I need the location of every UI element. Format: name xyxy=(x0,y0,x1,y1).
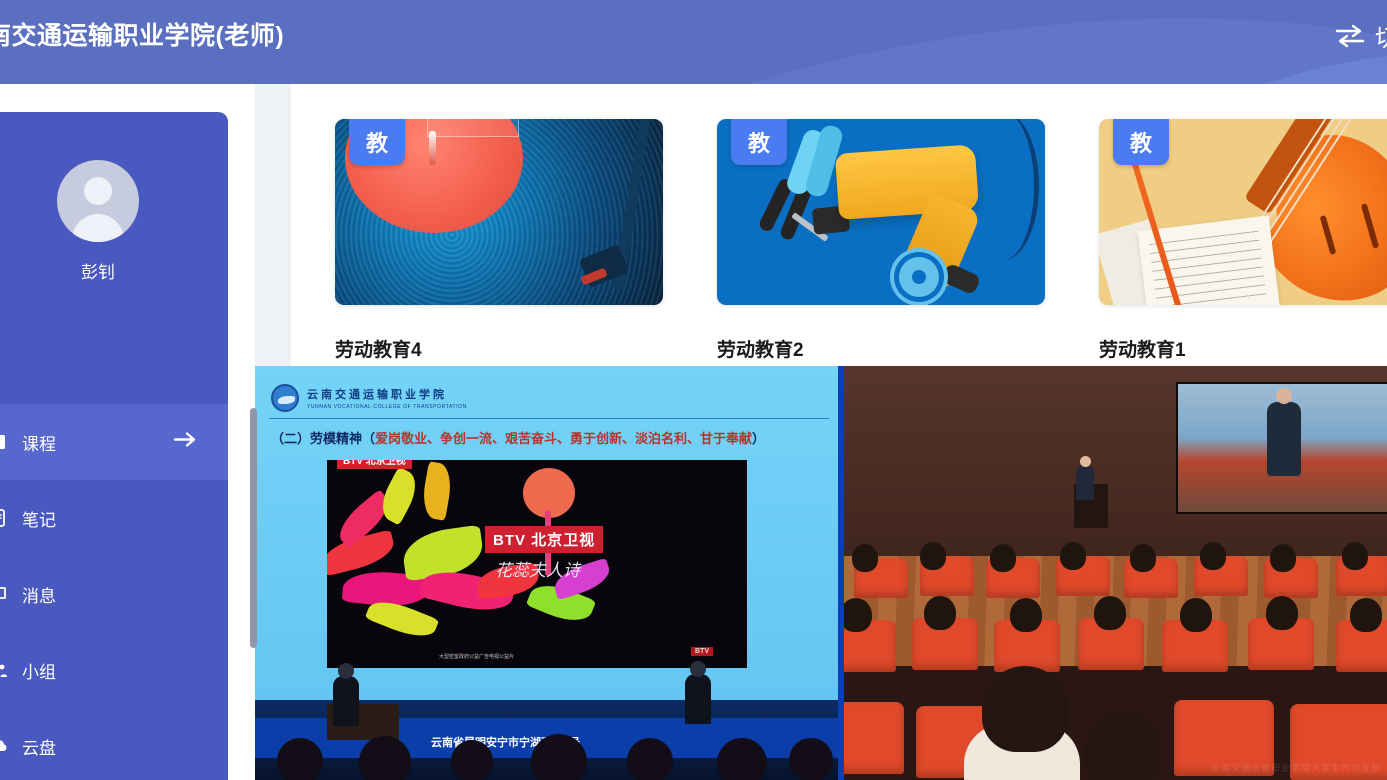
video-preview-row: 云南交通运输职业学院 YUNNAN VOCATIONAL COLLEGE OF … xyxy=(255,366,1387,780)
audience-head-decoration xyxy=(920,542,946,570)
profile-name: 彭钊 xyxy=(0,258,228,283)
sidebar-item-label: 小组 xyxy=(22,658,56,683)
sidebar-item-label: 课程 xyxy=(22,430,56,455)
audience-head-decoration xyxy=(451,740,493,780)
power-drill-tools-thumbnail: 教 xyxy=(717,119,1045,305)
video-watermark: 云南交通运输职业学院大学生时代支部 xyxy=(1211,761,1381,774)
course-badge: 教 xyxy=(349,119,405,165)
college-logo-icon xyxy=(271,384,299,412)
audience-head-decoration xyxy=(277,738,323,780)
audience-head-decoration xyxy=(359,736,411,780)
slide-heading-prefix: （二）劳模精神（ xyxy=(271,431,375,446)
speaker-person-decoration xyxy=(685,674,711,724)
sidebar-menu: 课程 笔记 xyxy=(0,404,228,780)
auditorium-projection-screen xyxy=(1176,382,1387,514)
slide-divider xyxy=(269,418,829,419)
presentation-slide-lecture-video[interactable]: 云南交通运输职业学院 YUNNAN VOCATIONAL COLLEGE OF … xyxy=(255,366,838,780)
course-card-title: 劳动教育2 xyxy=(717,335,1045,362)
vinyl-paper-decoration xyxy=(427,119,519,137)
btv-subtitle: 花蕊夫人诗 xyxy=(495,556,580,581)
sidebar-item-groups[interactable]: 小组 xyxy=(0,632,228,708)
auditorium-lecture-video[interactable]: 云南交通运输职业学院大学生时代支部 xyxy=(844,366,1387,780)
btv-ribbon-label: BTV 北京卫视 xyxy=(337,460,412,469)
sidebar-item-messages[interactable]: 消息 xyxy=(0,556,228,632)
avatar xyxy=(57,160,139,242)
btv-video-frame: BTV 北京卫视 BTV 北京卫视 花蕊夫人诗 大型密室政府公益广告电视公益片 … xyxy=(327,460,747,668)
arrow-right-icon xyxy=(173,431,197,454)
page-title: 南交通运输职业学院(老师) xyxy=(0,16,284,52)
audience-head-decoration xyxy=(1060,542,1086,570)
course-card-title: 劳动教育4 xyxy=(335,335,663,362)
cloud-disk-icon xyxy=(0,736,22,756)
sidebar-item-cloud-disk[interactable]: 云盘 xyxy=(0,708,228,780)
sidebar-item-label: 笔记 xyxy=(22,506,56,531)
app-header: 南交通运输职业学院(老师) 切换 xyxy=(0,0,1387,84)
vinyl-spindle-decoration xyxy=(429,131,436,165)
audience-head-decoration xyxy=(1342,542,1368,570)
course-badge: 教 xyxy=(731,119,787,165)
auditorium-speaker-person xyxy=(1076,466,1094,500)
audience-head-decoration xyxy=(852,544,878,572)
switch-arrows-icon xyxy=(1334,23,1366,49)
audience-head-decoration xyxy=(1270,544,1296,572)
audience-head-decoration xyxy=(1350,598,1382,632)
sidebar-item-label: 消息 xyxy=(22,582,56,607)
course-card[interactable]: 教 劳动教育1 xyxy=(1099,119,1387,362)
audience-head-decoration xyxy=(1010,598,1042,632)
header-wave-decoration-1 xyxy=(466,0,1387,84)
college-name-cn: 云南交通运输职业学院 xyxy=(307,386,467,402)
audience-head-decoration xyxy=(789,738,833,780)
college-name-en: YUNNAN VOCATIONAL COLLEGE OF TRANSPORTAT… xyxy=(307,404,467,410)
seat xyxy=(844,702,904,774)
audience-head-decoration xyxy=(627,738,673,780)
college-logo-row: 云南交通运输职业学院 YUNNAN VOCATIONAL COLLEGE OF … xyxy=(271,384,467,412)
audience-head-decoration xyxy=(924,596,956,630)
user-avatar-icon xyxy=(84,177,112,205)
audience-head-decoration xyxy=(1266,596,1298,630)
slide-surface: 云南交通运输职业学院 YUNNAN VOCATIONAL COLLEGE OF … xyxy=(255,366,838,702)
group-icon xyxy=(0,660,22,680)
violin-sheet-music-thumbnail: 教 xyxy=(1099,119,1387,305)
audience-head-foreground xyxy=(982,666,1068,752)
sidebar-profile[interactable]: 彭钊 xyxy=(0,112,228,283)
sidebar: 彭钊 课程 xyxy=(0,112,228,780)
course-card-title: 劳动教育1 xyxy=(1099,335,1387,362)
audience-head-decoration xyxy=(844,598,872,632)
audience-head-decoration xyxy=(990,544,1016,572)
sidebar-item-label: 云盘 xyxy=(22,734,56,759)
vinyl-record-thumbnail: 教 xyxy=(335,119,663,305)
btv-small-caption: 大型密室政府公益广告电视公益片 xyxy=(439,653,514,660)
sidebar-item-notes[interactable]: 笔记 xyxy=(0,480,228,556)
course-card-list: 教 劳动教育4 教 xyxy=(335,119,1387,362)
drill-cap-decoration xyxy=(940,263,981,296)
audience-head-foreground xyxy=(1084,712,1160,780)
switch-role-button[interactable]: 切换 xyxy=(1334,18,1387,53)
switch-role-label: 切换 xyxy=(1375,18,1387,53)
app-root: 南交通运输职业学院(老师) 切换 彭钊 xyxy=(0,0,1387,780)
btv-channel-tag: BTV 北京卫视 xyxy=(485,526,603,553)
avatar-body-shape xyxy=(72,214,124,242)
sidebar-item-courses[interactable]: 课程 xyxy=(0,404,228,480)
slide-heading: （二）劳模精神（爱岗敬业、争创一流、艰苦奋斗、勇于创新、淡泊名利、甘于奉献） xyxy=(271,428,765,447)
course-badge: 教 xyxy=(1113,119,1169,165)
course-card[interactable]: 教 劳动教育4 xyxy=(335,119,663,362)
content-gutter xyxy=(255,84,291,366)
sheet-music-decoration xyxy=(1138,215,1281,305)
slide-heading-suffix: ） xyxy=(752,431,765,446)
message-icon xyxy=(0,584,22,604)
audience-head-decoration xyxy=(1130,544,1156,572)
slide-heading-highlight: 爱岗敬业、争创一流、艰苦奋斗、勇于创新、淡泊名利、甘于奉献 xyxy=(375,431,752,446)
audience-head-decoration xyxy=(1094,596,1126,630)
auditorium-seating xyxy=(844,516,1387,780)
gear-icon xyxy=(899,257,939,297)
btv-corner-logo: BTV xyxy=(691,647,713,656)
speaker-person-decoration xyxy=(333,676,359,726)
course-card[interactable]: 教 劳动教育2 xyxy=(717,119,1045,362)
main-content: 教 劳动教育4 教 xyxy=(255,84,1387,780)
screen-person-decoration xyxy=(1267,402,1301,476)
audience-head-decoration xyxy=(1180,598,1212,632)
sidebar-scrollbar[interactable] xyxy=(250,408,257,648)
audience-head-decoration xyxy=(717,738,767,780)
note-icon xyxy=(0,508,22,528)
book-icon xyxy=(0,432,22,452)
audience-head-decoration xyxy=(1200,542,1226,570)
